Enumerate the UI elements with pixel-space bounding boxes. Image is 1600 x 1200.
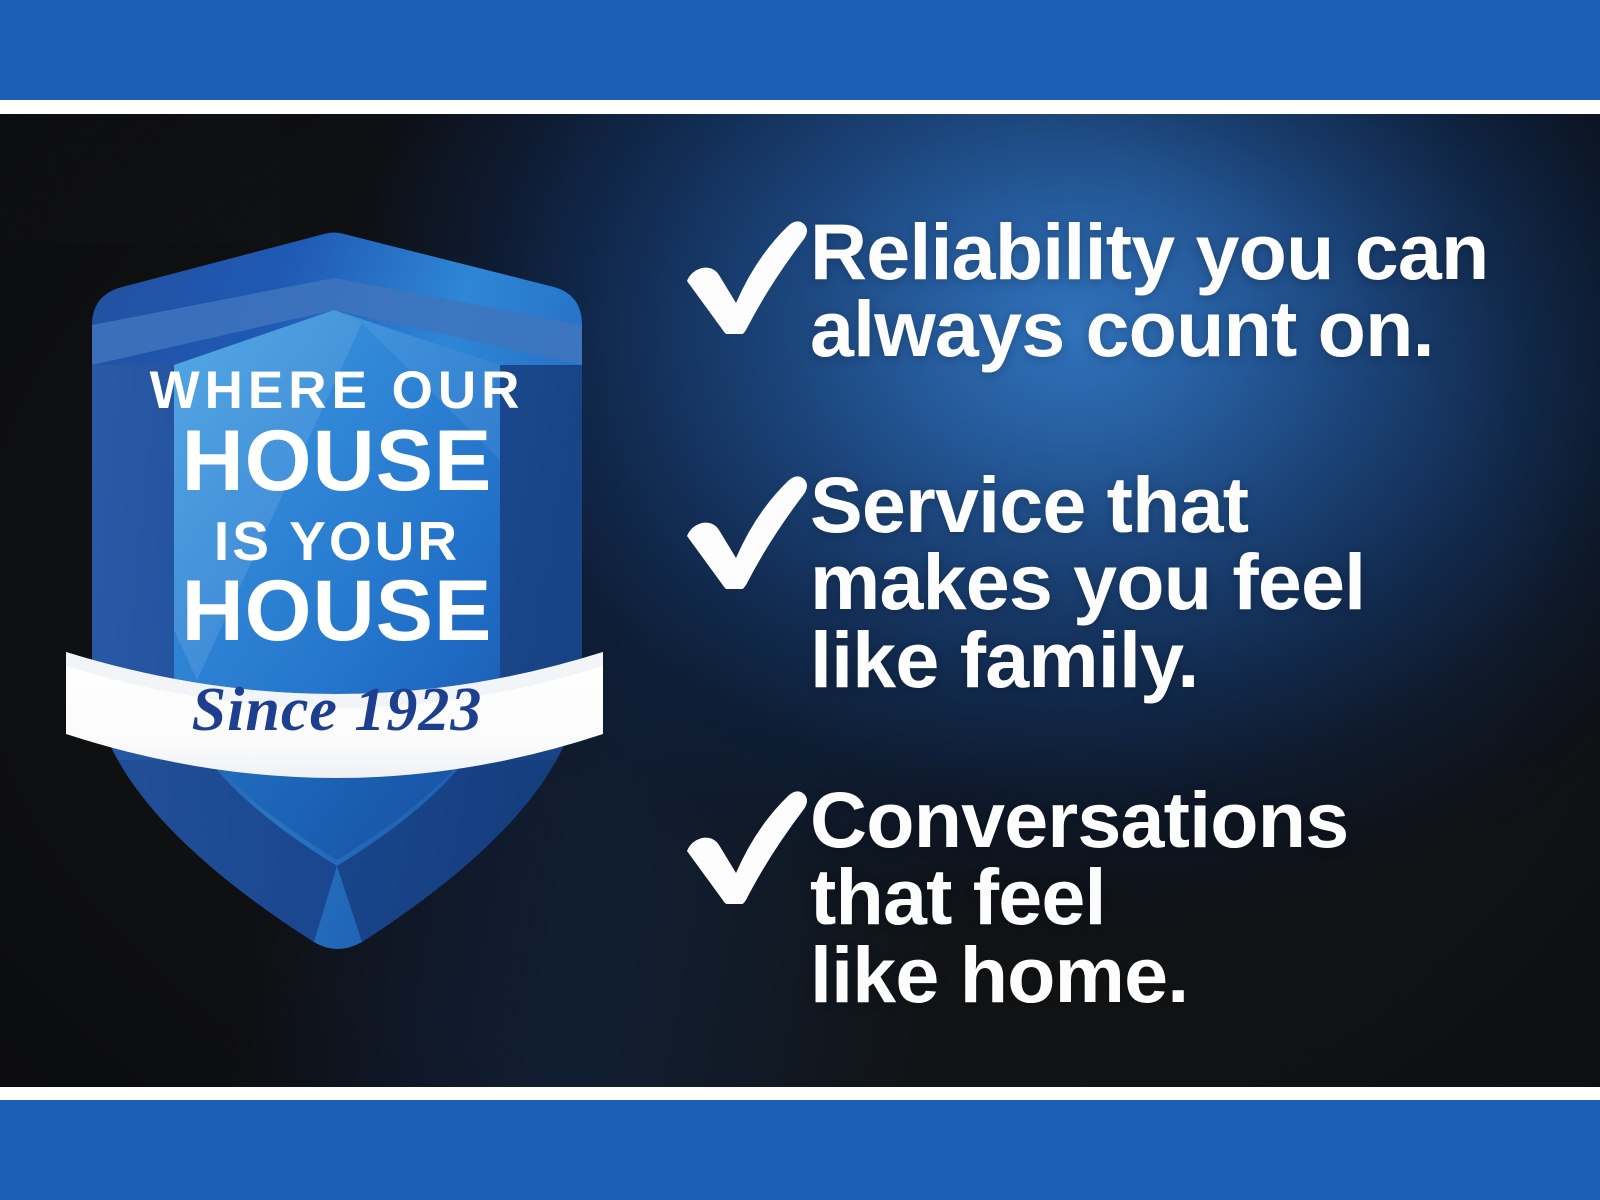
benefit-text: Service that makes you feel like family. xyxy=(810,466,1365,698)
logo-tagline-line-2: HOUSE xyxy=(182,413,493,509)
bottom-brand-bar xyxy=(0,1100,1600,1200)
benefits-list: Reliability you can always count on. Ser… xyxy=(660,114,1560,1087)
logo-tagline-line-1: WHERE OUR xyxy=(150,361,525,420)
benefit-item-conversations: Conversations that feel like home. xyxy=(660,779,1348,1013)
logo-tagline-line-4: HOUSE xyxy=(182,563,493,659)
since-ribbon-text: Since 1923 xyxy=(192,676,483,744)
check-icon xyxy=(660,464,810,589)
benefit-text: Reliability you can always count on. xyxy=(810,213,1488,368)
promo-banner: WHERE OUR HOUSE IS YOUR HOUSE Since 1923… xyxy=(0,0,1600,1200)
benefit-item-reliability: Reliability you can always count on. xyxy=(660,209,1488,368)
check-icon xyxy=(660,779,810,904)
benefit-item-service: Service that makes you feel like family. xyxy=(660,464,1365,698)
check-icon xyxy=(660,209,810,334)
top-brand-bar xyxy=(0,0,1600,100)
logo-lockup: WHERE OUR HOUSE IS YOUR HOUSE Since 1923 xyxy=(62,160,607,960)
benefit-text: Conversations that feel like home. xyxy=(810,781,1348,1013)
